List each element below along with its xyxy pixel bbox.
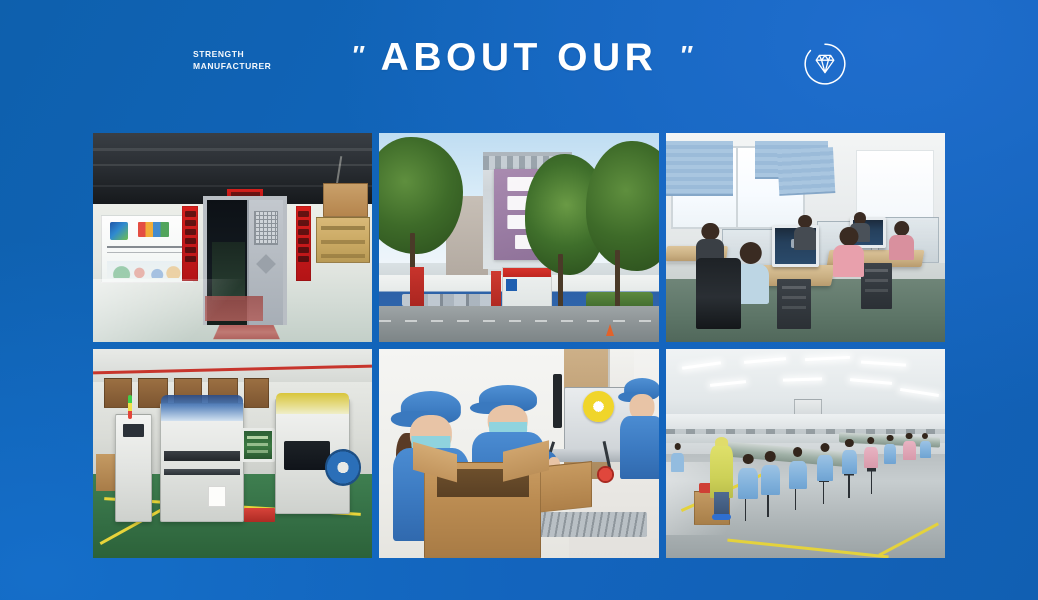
worker-body (761, 465, 781, 495)
machine-conveyor-rail (164, 451, 239, 460)
sealer-red-knob (597, 466, 614, 483)
worker-head (743, 454, 754, 465)
signal-tower-light (128, 395, 132, 419)
worker-body (884, 444, 897, 464)
gatehouse-red-sign (503, 268, 551, 278)
tree-trunk (558, 254, 563, 308)
worker-body (789, 461, 807, 489)
supervisor-shoe-covers (712, 514, 731, 521)
tape-reel (583, 391, 614, 422)
quote-left-icon: ″ (351, 42, 358, 68)
company-banner (101, 215, 193, 284)
parking-sign (506, 279, 517, 290)
tree-trunk (615, 250, 620, 313)
packing-worker (620, 378, 659, 478)
photo-entrance-image (93, 133, 372, 342)
worker-body (864, 447, 878, 468)
assembly-worker (842, 439, 857, 475)
machine-hmi-screen (241, 428, 275, 461)
award-plaques (316, 217, 369, 263)
machine-conveyor-rail (164, 469, 239, 475)
header-kicker: STRENGTH MANUFACTURER (193, 49, 271, 72)
assembly-worker (789, 447, 807, 489)
assembly-worker (884, 435, 897, 464)
street-road (379, 306, 658, 342)
window-blind (666, 141, 733, 195)
supervisor-legs (714, 492, 728, 514)
gallery-photo-smt-line[interactable] (93, 349, 372, 558)
control-cabinet (115, 414, 151, 523)
kicker-line-1: STRENGTH (193, 49, 271, 61)
open-carton (424, 462, 541, 558)
worker-head (867, 437, 875, 445)
photo-office-image (666, 133, 945, 342)
assembly-worker (864, 437, 878, 468)
worker-body (920, 441, 931, 458)
machine-opening (284, 441, 330, 470)
worker-coat (620, 416, 659, 478)
ceiling-beam (93, 164, 372, 166)
gallery-photo-assembly-hall[interactable] (666, 349, 945, 558)
work-stool (867, 464, 876, 493)
worker-head (886, 435, 893, 442)
assembly-worker (738, 454, 758, 500)
gallery-photo-entrance[interactable] (93, 133, 372, 342)
assembly-worker (920, 433, 931, 458)
page-header: STRENGTH MANUFACTURER ″ ABOUT OUR ″ (0, 0, 1038, 125)
worker-head (906, 433, 913, 440)
worker-head (765, 451, 776, 462)
worker-head (798, 215, 812, 229)
pick-and-place-machine (160, 403, 244, 522)
quote-right-icon: ″ (679, 42, 686, 68)
worker-head (839, 227, 858, 246)
ceiling-beam (93, 148, 372, 151)
assembly-worker (761, 451, 781, 495)
banner-artwork (107, 261, 188, 278)
background-worker (671, 443, 684, 472)
door-diamond-detail (256, 255, 276, 275)
worker-head (845, 439, 853, 447)
traffic-cone (606, 324, 614, 336)
worker-body (794, 227, 816, 250)
worker-head (740, 242, 763, 265)
photo-assembly-hall-image (666, 349, 945, 558)
company-logo-mark (110, 222, 128, 239)
worker-head (702, 223, 719, 240)
company-logo-wordmark (138, 222, 169, 237)
office-chair (696, 258, 741, 329)
office-worker (833, 227, 864, 277)
page-title: ABOUT OUR (381, 34, 658, 82)
worker-head (793, 447, 803, 457)
worker-body (903, 441, 916, 459)
machine-document-sheet (208, 486, 226, 507)
red-toolbox (244, 508, 275, 523)
worker-body (889, 235, 914, 260)
office-window (856, 150, 934, 221)
machine-hood (161, 395, 243, 421)
supervisor-coat (710, 446, 732, 498)
gallery-photo-packing[interactable] (379, 349, 658, 558)
desk-drawer-unit (777, 279, 811, 329)
office-worker (794, 215, 816, 251)
gallery-photo-building-exterior[interactable] (379, 133, 658, 342)
worker-head (820, 443, 829, 452)
assembly-worker (817, 443, 834, 481)
window-blind (777, 147, 835, 196)
red-couplet-left (182, 206, 197, 281)
photo-smt-line-image (93, 349, 372, 558)
machine-hood (276, 393, 349, 413)
red-couplet-right (296, 206, 311, 281)
gallery-photo-office[interactable] (666, 133, 945, 342)
assembly-worker (903, 433, 916, 460)
kicker-line-2: MANUFACTURER (193, 61, 271, 73)
worker-head (894, 221, 910, 237)
photo-packing-image (379, 349, 658, 558)
diamond-icon (803, 42, 847, 86)
worker-body (817, 455, 834, 481)
worker-head (674, 443, 681, 450)
component-reel (325, 449, 361, 485)
desk-drawer-unit (861, 263, 892, 309)
shelf-carton (244, 378, 269, 407)
sealer-vertical-arm (553, 374, 563, 428)
floor-sunlight (93, 279, 284, 342)
photo-gallery-grid (93, 133, 945, 558)
worker-body (833, 245, 864, 277)
worker-head (922, 433, 928, 439)
stacked-cartons (323, 183, 368, 216)
page-title-group: ″ ABOUT OUR ″ (0, 34, 1038, 82)
banner-text-line (107, 246, 188, 248)
photo-building-exterior-image (379, 133, 658, 342)
door-grille (254, 211, 279, 245)
page-background: STRENGTH MANUFACTURER ″ ABOUT OUR ″ (0, 0, 1038, 600)
worker-body (738, 468, 758, 499)
worker-body (671, 453, 684, 472)
banner-text-line (107, 252, 188, 253)
conveyor-rollers (525, 512, 648, 537)
worker-body (842, 450, 857, 474)
office-worker (889, 221, 914, 261)
supervisor-worker (710, 437, 732, 521)
